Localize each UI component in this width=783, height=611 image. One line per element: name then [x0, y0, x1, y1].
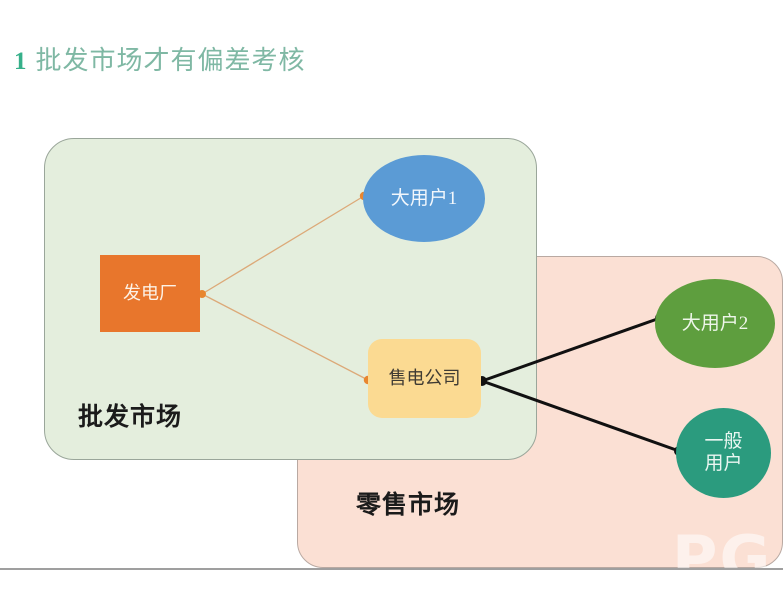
watermark: PG — [672, 528, 772, 590]
node-large-user-2[interactable]: 大用户2 — [655, 279, 775, 368]
node-electricity-retailer-label: 售电公司 — [389, 368, 461, 389]
node-power-plant[interactable]: 发电厂 — [100, 255, 200, 332]
node-general-user-label: 一般 用户 — [704, 431, 742, 475]
wholesale-market-label: 批发市场 — [78, 397, 182, 433]
node-large-user-1-label: 大用户1 — [391, 188, 458, 210]
node-general-user[interactable]: 一般 用户 — [676, 408, 771, 498]
slide-canvas: 1 批发市场才有偏差考核 发电厂 大用户1 售电公司 大用户2 一般 用户 — [0, 0, 783, 611]
page-title: 1 批发市场才有偏差考核 — [14, 48, 306, 74]
retail-market-label: 零售市场 — [356, 485, 460, 521]
title-text: 批发市场才有偏差考核 — [36, 48, 306, 74]
node-electricity-retailer[interactable]: 售电公司 — [368, 339, 481, 418]
node-power-plant-label: 发电厂 — [123, 283, 177, 304]
node-large-user-2-label: 大用户2 — [682, 313, 749, 335]
node-large-user-1[interactable]: 大用户1 — [363, 155, 485, 242]
bottom-divider — [0, 568, 783, 570]
title-number: 1 — [14, 49, 27, 74]
